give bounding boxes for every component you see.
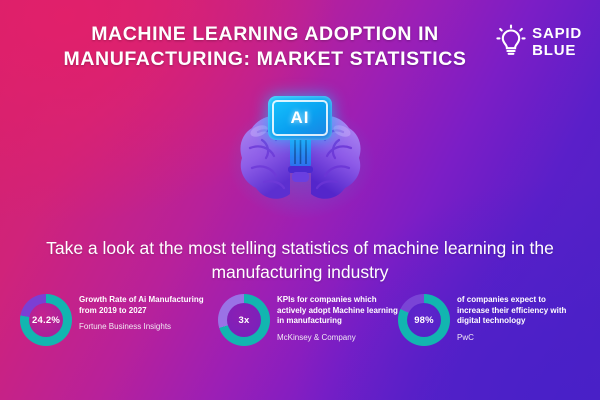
donut-chart-icon: 3x: [218, 294, 270, 346]
stat-source: McKinsey & Company: [277, 333, 398, 344]
ai-chip-badge: AI: [268, 96, 332, 140]
brain-with-ai-chip-icon: AI: [218, 82, 383, 222]
stat-item: 3x KPIs for companies which actively ado…: [218, 294, 398, 346]
stat-source: PwC: [457, 333, 574, 344]
stat-value: 3x: [239, 315, 250, 326]
donut-chart-icon: 98%: [398, 294, 450, 346]
brand-name: SAPID BLUE: [532, 24, 582, 58]
brand-name-line2: BLUE: [532, 43, 582, 58]
subheading: Take a look at the most telling statisti…: [32, 236, 568, 284]
stat-description: KPIs for companies which actively adopt …: [277, 295, 398, 327]
stat-item: 24.2% Growth Rate of Ai Manufacturing fr…: [20, 294, 218, 346]
infographic-poster: MACHINE LEARNING ADOPTION IN MANUFACTURI…: [0, 0, 600, 400]
stat-source: Fortune Business Insights: [79, 322, 218, 333]
ai-chip-label: AI: [272, 100, 328, 136]
stat-description: Growth Rate of Ai Manufacturing from 201…: [79, 295, 218, 316]
stat-item: 98% of companies expect to increase thei…: [398, 294, 574, 346]
stat-text: KPIs for companies which actively adopt …: [277, 294, 398, 343]
brand-name-line1: SAPID: [532, 25, 582, 42]
stat-value: 24.2%: [32, 315, 60, 326]
lightbulb-icon: [496, 24, 526, 58]
donut-chart-icon: 24.2%: [20, 294, 72, 346]
stats-row: 24.2% Growth Rate of Ai Manufacturing fr…: [20, 294, 580, 346]
brand-logo: SAPID BLUE: [496, 24, 582, 58]
stat-text: of companies expect to increase their ef…: [457, 294, 574, 343]
stat-description: of companies expect to increase their ef…: [457, 295, 574, 327]
stat-value: 98%: [414, 315, 434, 326]
stat-text: Growth Rate of Ai Manufacturing from 201…: [79, 294, 218, 333]
page-title: MACHINE LEARNING ADOPTION IN MANUFACTURI…: [30, 22, 500, 72]
